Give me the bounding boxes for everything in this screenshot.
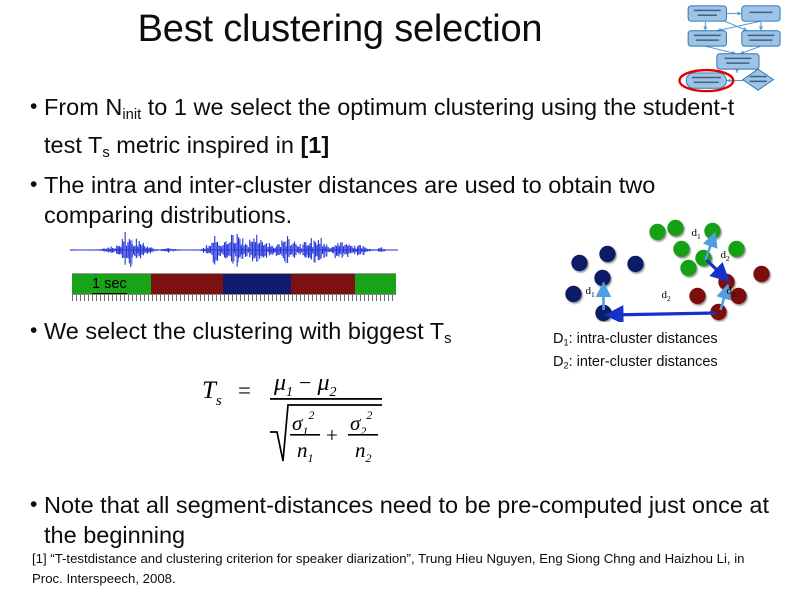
bullet-text: Note that all segment-distances need to … <box>44 490 770 550</box>
bullet-select-biggest: • We select the clustering with biggest … <box>30 316 550 354</box>
bullet-text: From Ninit to 1 we select the optimum cl… <box>44 92 770 168</box>
thumb-node-acoustic-feature-extraction <box>688 6 726 21</box>
presentation-slide: Best clustering selection <box>0 0 800 599</box>
subscript-init: init <box>122 107 141 123</box>
formula-numerator: μ1 − μ2 <box>273 370 337 400</box>
cluster-point-green <box>673 241 689 257</box>
distance-label-d1-navy: d1 <box>586 285 596 299</box>
cluster-point-darkred <box>753 266 769 282</box>
cluster-point-green <box>649 224 665 240</box>
bullet-marker-icon: • <box>30 490 44 520</box>
cluster-point-navy <box>599 246 615 262</box>
formula-lhs: Ts <box>202 377 222 409</box>
formula-term1-denominator: n1 <box>297 438 314 465</box>
cluster-point-navy <box>565 286 581 302</box>
formula-term1-numerator: σ12 <box>292 408 314 438</box>
segment-speaker-green-2 <box>355 274 396 295</box>
thumb-node-best-clustering-selection <box>686 73 726 88</box>
segment-speaker-darkred-1 <box>151 274 223 295</box>
subscript-s: s <box>444 331 451 347</box>
cluster-point-green <box>728 241 744 257</box>
formula-term2-numerator: σ22 <box>350 408 372 438</box>
bullet-marker-icon: • <box>30 170 44 200</box>
distance-arrow-d2-green-red <box>707 260 728 280</box>
distance-label-d1-red: d1 <box>727 285 737 299</box>
legend-item-d2: D2: inter-cluster distances <box>553 353 793 376</box>
legend-item-d1: D1: intra-cluster distances <box>553 330 793 353</box>
cluster-point-navy <box>627 256 643 272</box>
subscript-s: s <box>102 145 109 161</box>
cluster-point-navy <box>571 255 587 271</box>
cluster-point-navy <box>594 270 610 286</box>
page-title: Best clustering selection <box>40 8 640 51</box>
distance-arrow-d2-navy-red <box>608 313 716 315</box>
waveform-plot <box>70 228 398 272</box>
segment-speaker-green-1: 1 sec <box>72 274 151 295</box>
segment-speaker-navy <box>223 274 291 295</box>
thumb-node-gmm-training <box>742 6 780 21</box>
cluster-distance-diagram: d1d2d1d2d1 <box>545 216 800 322</box>
distance-label-d2-navy-red: d2 <box>662 289 672 303</box>
thumb-node-agglomerative-clustering <box>717 54 759 69</box>
bullet-text: We select the clustering with biggest Ts <box>44 316 452 354</box>
reference-marker: [1] <box>300 132 329 158</box>
bullet-precompute: • Note that all segment-distances need t… <box>30 490 770 550</box>
bullet-marker-icon: • <box>30 92 44 122</box>
cluster-point-green <box>667 220 683 236</box>
bullet-marker-icon: • <box>30 316 44 346</box>
time-ruler <box>72 294 396 301</box>
one-second-label: 1 sec <box>92 275 127 294</box>
formula-plus: + <box>326 423 338 447</box>
segment-speaker-darkred-2 <box>291 274 355 295</box>
cluster-point-green <box>680 260 696 276</box>
distance-label-d1-green: d1 <box>692 227 702 241</box>
audio-waveform-figure: 1 sec <box>70 228 398 302</box>
pipeline-thumbnail-diagram <box>676 2 798 94</box>
thumb-node-speaker-modeling <box>688 31 726 46</box>
thumb-node-criterion <box>742 31 780 46</box>
t-statistic-formula: Ts = μ1 − μ2 σ12 n1 + σ22 n2 <box>198 362 458 467</box>
speaker-segment-bar: 1 sec <box>72 273 396 295</box>
cluster-legend: D1: intra-cluster distances D2: inter-cl… <box>553 330 793 375</box>
cluster-point-darkred <box>689 288 705 304</box>
formula-equals: = <box>238 378 251 403</box>
thumb-node-stop-decision <box>743 69 774 90</box>
formula-term2-denominator: n2 <box>355 438 372 465</box>
bullet-from-ninit: • From Ninit to 1 we select the optimum … <box>30 92 770 168</box>
footnote-reference: [1] “T-testdistance and clustering crite… <box>32 549 774 589</box>
